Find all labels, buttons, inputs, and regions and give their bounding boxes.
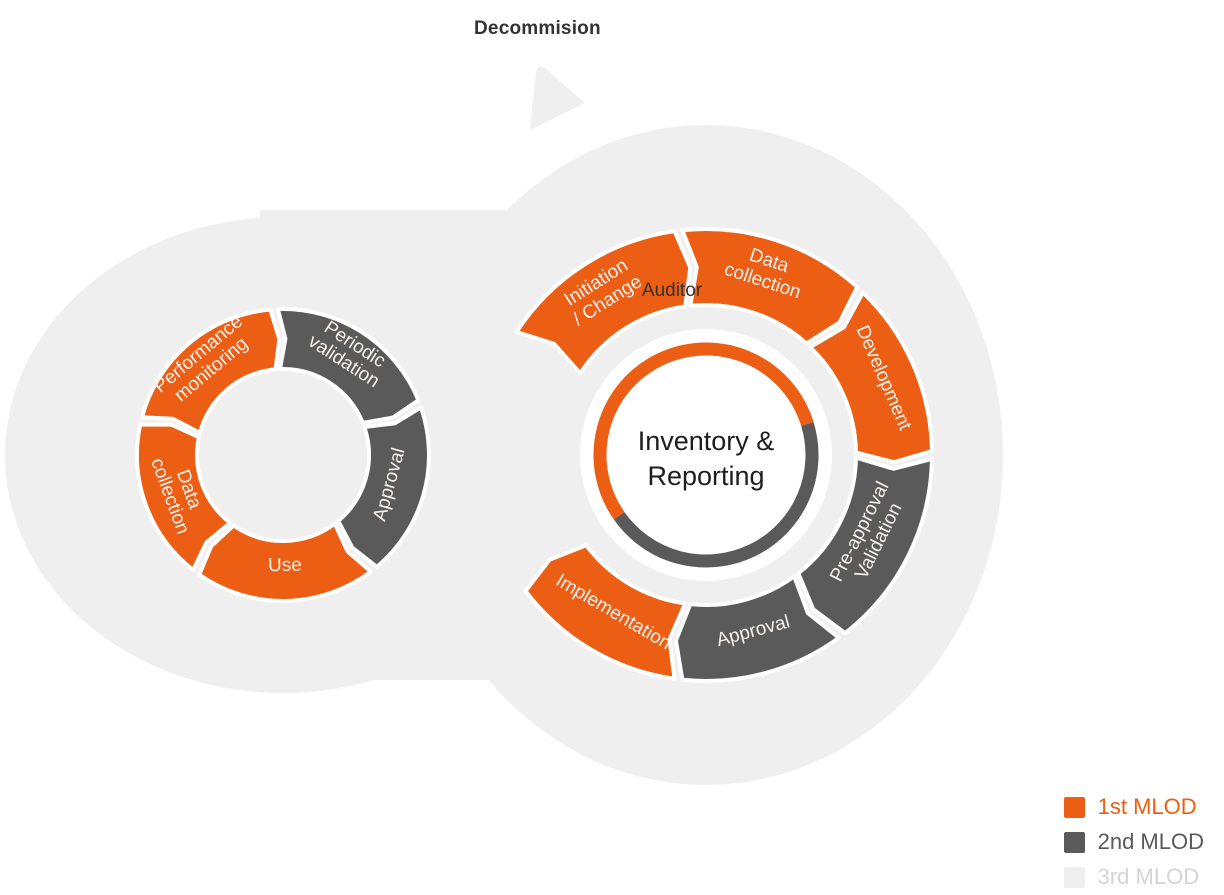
ring-segment-label: Use bbox=[268, 555, 302, 577]
auditor-label: Auditor bbox=[642, 280, 702, 302]
lifecycle-diagram: Initiation/ ChangeDatacollectionDevelopm… bbox=[0, 0, 1224, 895]
legend-swatch-1st-mlod bbox=[1064, 797, 1085, 818]
center-hub: Inventory &Reporting bbox=[580, 329, 832, 581]
legend-item[interactable]: 3rd MLOD bbox=[1064, 864, 1199, 890]
legend-label-1st-mlod: 1st MLOD bbox=[1098, 796, 1197, 818]
legend-label-3rd-mlod: 3rd MLOD bbox=[1098, 866, 1199, 888]
legend-swatch-3rd-mlod bbox=[1064, 867, 1085, 888]
legend-swatch-2nd-mlod bbox=[1064, 832, 1085, 853]
legend: 1st MLOD 2nd MLOD 3rd MLOD bbox=[1064, 794, 1204, 890]
legend-label-2nd-mlod: 2nd MLOD bbox=[1098, 831, 1204, 853]
legend-item[interactable]: 1st MLOD bbox=[1064, 794, 1197, 820]
diagram-canvas: Initiation/ ChangeDatacollectionDevelopm… bbox=[0, 0, 1224, 895]
decommission-title: Decommision bbox=[474, 18, 601, 40]
legend-item[interactable]: 2nd MLOD bbox=[1064, 829, 1204, 855]
